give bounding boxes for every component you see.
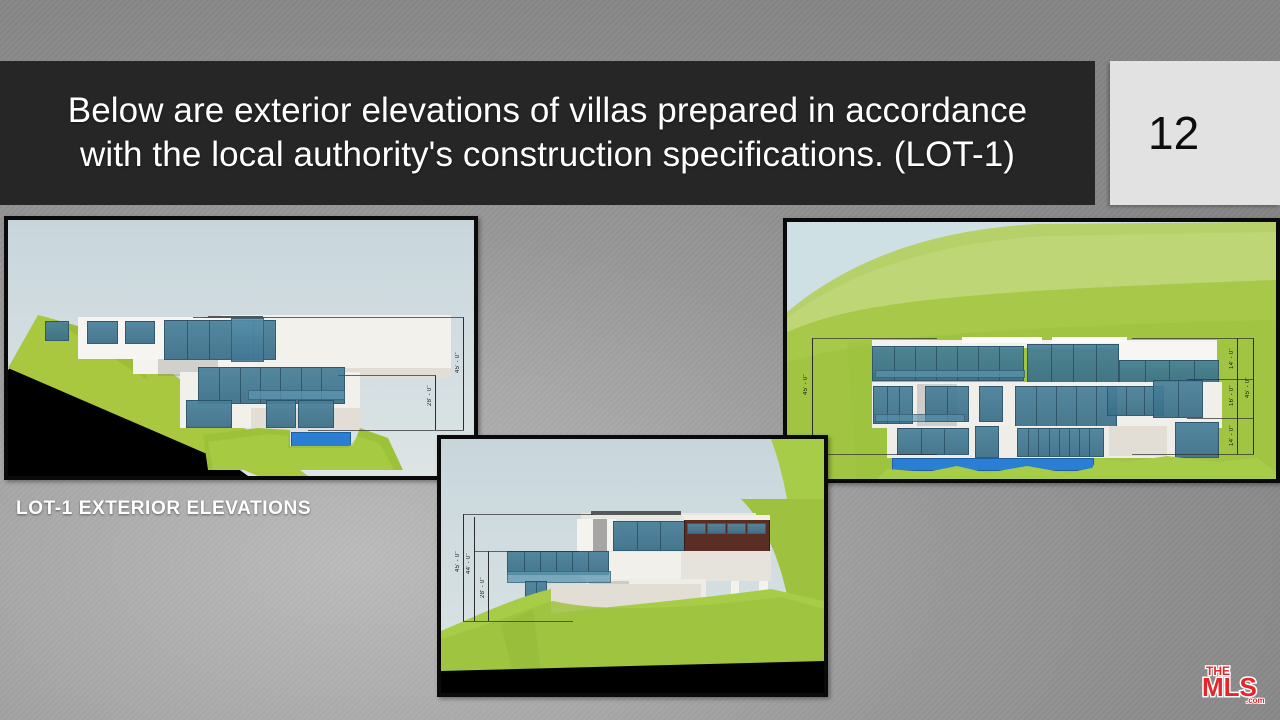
- page-number-box: 12: [1110, 61, 1280, 205]
- dimension-label: 14' - 0": [1229, 348, 1235, 369]
- mls-logo: THE MLS .com: [1196, 658, 1270, 708]
- title-bar: Below are exterior elevations of villas …: [0, 61, 1095, 205]
- elevation-render-left: 45' - 0" 28' - 0": [8, 220, 474, 476]
- mls-logo-icon: THE MLS .com: [1196, 658, 1270, 708]
- dimension-label: 16' - 0": [1229, 385, 1235, 406]
- dimension-label: 45' - 0": [803, 374, 809, 395]
- image-center-elevation[interactable]: 45' - 0" 44' - 0" 28' - 0": [437, 435, 828, 697]
- caption-lot-1-exterior-elevations: LOT-1 EXTERIOR ELEVATIONS: [16, 498, 311, 520]
- dimension-label: 28' - 0": [480, 577, 486, 598]
- page-title: Below are exterior elevations of villas …: [32, 89, 1063, 177]
- mls-logo-dotcom: .com: [1246, 696, 1265, 705]
- dimension-label: 45' - 0": [455, 551, 461, 572]
- slide-canvas: Below are exterior elevations of villas …: [0, 0, 1280, 720]
- dimension-label: 44' - 0": [466, 553, 472, 574]
- image-right-elevation[interactable]: 45' - 0" 14' - 0" 16' - 0" 14' - 0" 45' …: [783, 218, 1280, 483]
- page-number: 12: [1148, 106, 1199, 160]
- image-left-elevation[interactable]: 45' - 0" 28' - 0": [4, 216, 478, 480]
- dimension-label: 45' - 0": [455, 352, 461, 373]
- elevation-render-center: 45' - 0" 44' - 0" 28' - 0": [441, 439, 824, 693]
- dimension-label: 28' - 0": [427, 385, 433, 406]
- dimension-label: 45' - 0": [1245, 377, 1251, 398]
- dimension-label: 14' - 0": [1229, 425, 1235, 446]
- elevation-render-right: 45' - 0" 14' - 0" 16' - 0" 14' - 0" 45' …: [787, 222, 1276, 479]
